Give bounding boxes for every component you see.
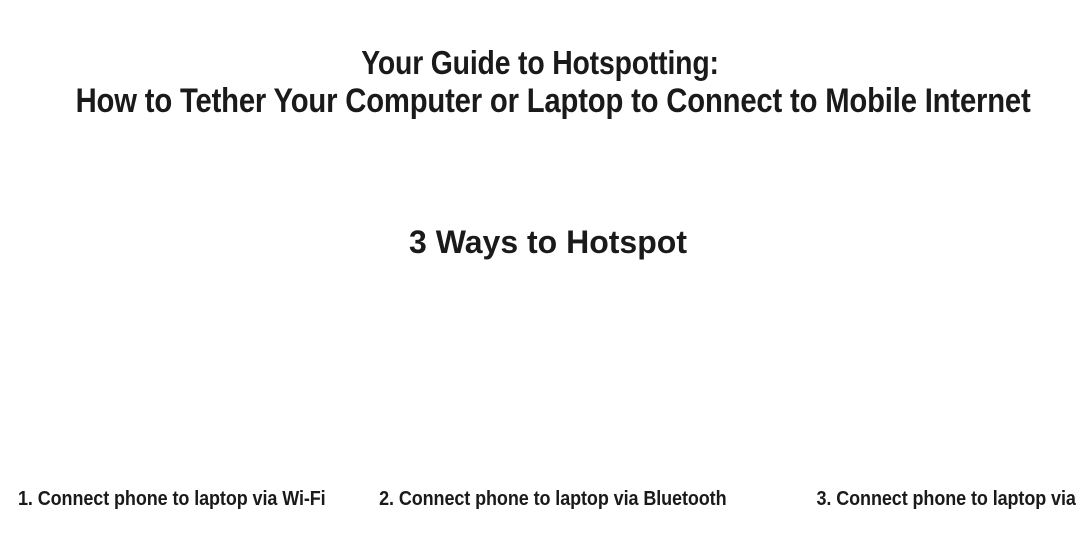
illustration-slot-cable bbox=[720, 280, 1080, 476]
method-caption-cable: 3. Connect phone to laptop via cable bbox=[767, 487, 1080, 513]
page-title-line-1: Your Guide to Hotspotting: bbox=[76, 44, 1005, 82]
page-title-line-2: How to Tether Your Computer or Laptop to… bbox=[76, 82, 1005, 120]
infographic-canvas: Your Guide to Hotspotting: How to Tether… bbox=[0, 0, 1080, 552]
page-title: Your Guide to Hotspotting: How to Tether… bbox=[0, 44, 1080, 120]
method-caption-row: 1. Connect phone to laptop via Wi-Fi 2. … bbox=[0, 487, 1080, 513]
method-caption-wifi: 1. Connect phone to laptop via Wi-Fi bbox=[0, 487, 326, 513]
method-caption-bluetooth: 2. Connect phone to laptop via Bluetooth bbox=[362, 487, 727, 513]
illustration-slot-bluetooth bbox=[360, 280, 720, 476]
section-heading: 3 Ways to Hotspot bbox=[0, 221, 1080, 263]
illustration-band bbox=[0, 280, 1080, 476]
illustration-slot-wifi bbox=[0, 280, 360, 476]
